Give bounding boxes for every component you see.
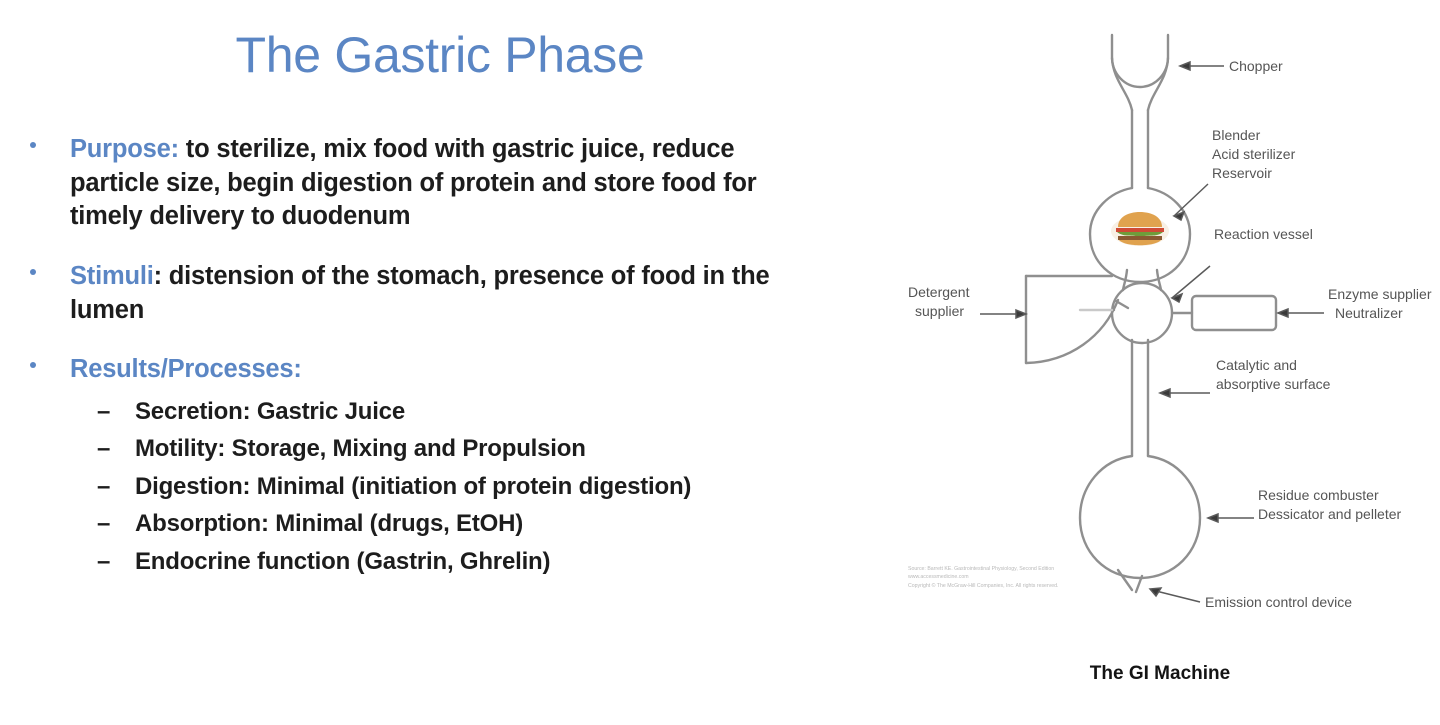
list-item: – Endocrine function (Gastrin, Ghrelin) [22,546,812,578]
source-line-2: www.accessmedicine.com [908,573,1208,581]
bullet-lead-label: Stimuli [70,262,154,290]
label-catalytic-line2: absorptive surface [1216,376,1331,392]
list-item: – Digestion: Minimal (initiation of prot… [22,471,812,503]
reservoir-arrowhead [1174,212,1184,220]
residue-arrowhead [1208,514,1218,522]
bullet-text: Results/Processes: [70,355,302,383]
label-residue-line1: Residue combuster [1258,487,1379,503]
list-item: – Secretion: Gastric Juice [22,396,812,428]
source-attribution: Source: Barrett KE. Gastrointestinal Phy… [908,565,1208,590]
bullet-row: Results/Processes: [22,353,812,387]
figure-caption: The GI Machine [880,663,1440,685]
bullet-row: Purpose: to sterilize, mix food with gas… [22,133,812,234]
reaction-vessel-circle [1112,283,1172,343]
reaction-vessel-leader-line [1172,266,1210,298]
slide-body-content: Purpose: to sterilize, mix food with gas… [22,133,812,583]
sub-bullet-text: Absorption: Minimal (drugs, EtOH) [135,510,523,537]
reaction-vessel-arrowhead [1172,294,1182,302]
colon-circle-shape [1080,456,1200,578]
sub-bullet-dash-icon: – [97,471,110,503]
label-neutralizer: Neutralizer [1335,305,1403,321]
detergent-arrowhead [1016,310,1026,318]
bullet-lead-label: Results/Processes: [70,355,302,383]
sub-bullet-list: – Secretion: Gastric Juice – Motility: S… [22,396,812,578]
label-acid-sterilizer: Acid sterilizer [1212,146,1296,162]
bullet-lead-label: Purpose [70,135,171,163]
bullet-dot-icon [30,362,36,368]
label-catalytic-line1: Catalytic and [1216,357,1297,373]
chopper-funnel-shape [1112,35,1168,87]
label-emission: Emission control device [1205,594,1352,610]
list-item: – Absorption: Minimal (drugs, EtOH) [22,508,812,540]
sub-bullet-text: Motility: Storage, Mixing and Propulsion [135,435,586,462]
bullet-text: Stimuli: distension of the stomach, pres… [70,262,769,324]
label-reaction-vessel: Reaction vessel [1214,226,1313,242]
bullet-body-text: : distension of the stomach, presence of… [70,262,769,324]
duct-anchor [1113,307,1114,308]
slide-canvas: The Gastric Phase Purpose: to sterilize,… [0,0,1440,725]
sub-bullet-text: Endocrine function (Gastrin, Ghrelin) [135,548,550,575]
bullet-text: Purpose: to sterilize, mix food with gas… [70,135,756,230]
bullet-lead-colon: : [171,135,179,163]
label-enzyme-supplier: Enzyme supplier [1328,286,1432,302]
label-residue-line2: Dessicator and pelleter [1258,506,1402,522]
label-blender: Blender [1212,127,1261,143]
label-chopper: Chopper [1229,58,1283,74]
label-reservoir: Reservoir [1212,165,1272,181]
source-line-1: Source: Barrett KE. Gastrointestinal Phy… [908,565,1208,573]
page-title: The Gastric Phase [0,28,880,83]
catalytic-arrowhead [1160,389,1170,397]
sub-bullet-text: Digestion: Minimal (initiation of protei… [135,473,691,500]
bullet-dot-icon [30,269,36,275]
label-detergent-supplier-line2: supplier [915,303,964,319]
food-bolus-burger-icon [1111,212,1169,246]
sub-bullet-dash-icon: – [97,396,110,428]
enzyme-supplier-box [1192,296,1276,330]
gi-machine-diagram: Chopper Blender Acid sterilizer Reservoi… [880,18,1440,658]
chopper-arrowhead [1180,62,1190,70]
enzyme-arrowhead [1278,309,1288,317]
cystic-duct [1116,301,1128,308]
bullet-row: Stimuli: distension of the stomach, pres… [22,260,812,327]
bullet-block-stimuli: Stimuli: distension of the stomach, pres… [22,260,812,327]
sub-bullet-dash-icon: – [97,546,110,578]
bullet-dot-icon [30,142,36,148]
list-item: – Motility: Storage, Mixing and Propulsi… [22,433,812,465]
sub-bullet-dash-icon: – [97,433,110,465]
label-detergent-supplier-line1: Detergent [908,284,970,300]
reservoir-leader-line [1174,184,1208,216]
sub-bullet-text: Secretion: Gastric Juice [135,398,405,425]
bullet-block-results: Results/Processes: – Secretion: Gastric … [22,353,812,578]
bullet-block-purpose: Purpose: to sterilize, mix food with gas… [22,133,812,234]
gi-machine-figure: Chopper Blender Acid sterilizer Reservoi… [880,18,1440,725]
sub-bullet-dash-icon: – [97,508,110,540]
source-line-3: Copyright © The McGraw-Hill Companies, I… [908,582,1208,590]
